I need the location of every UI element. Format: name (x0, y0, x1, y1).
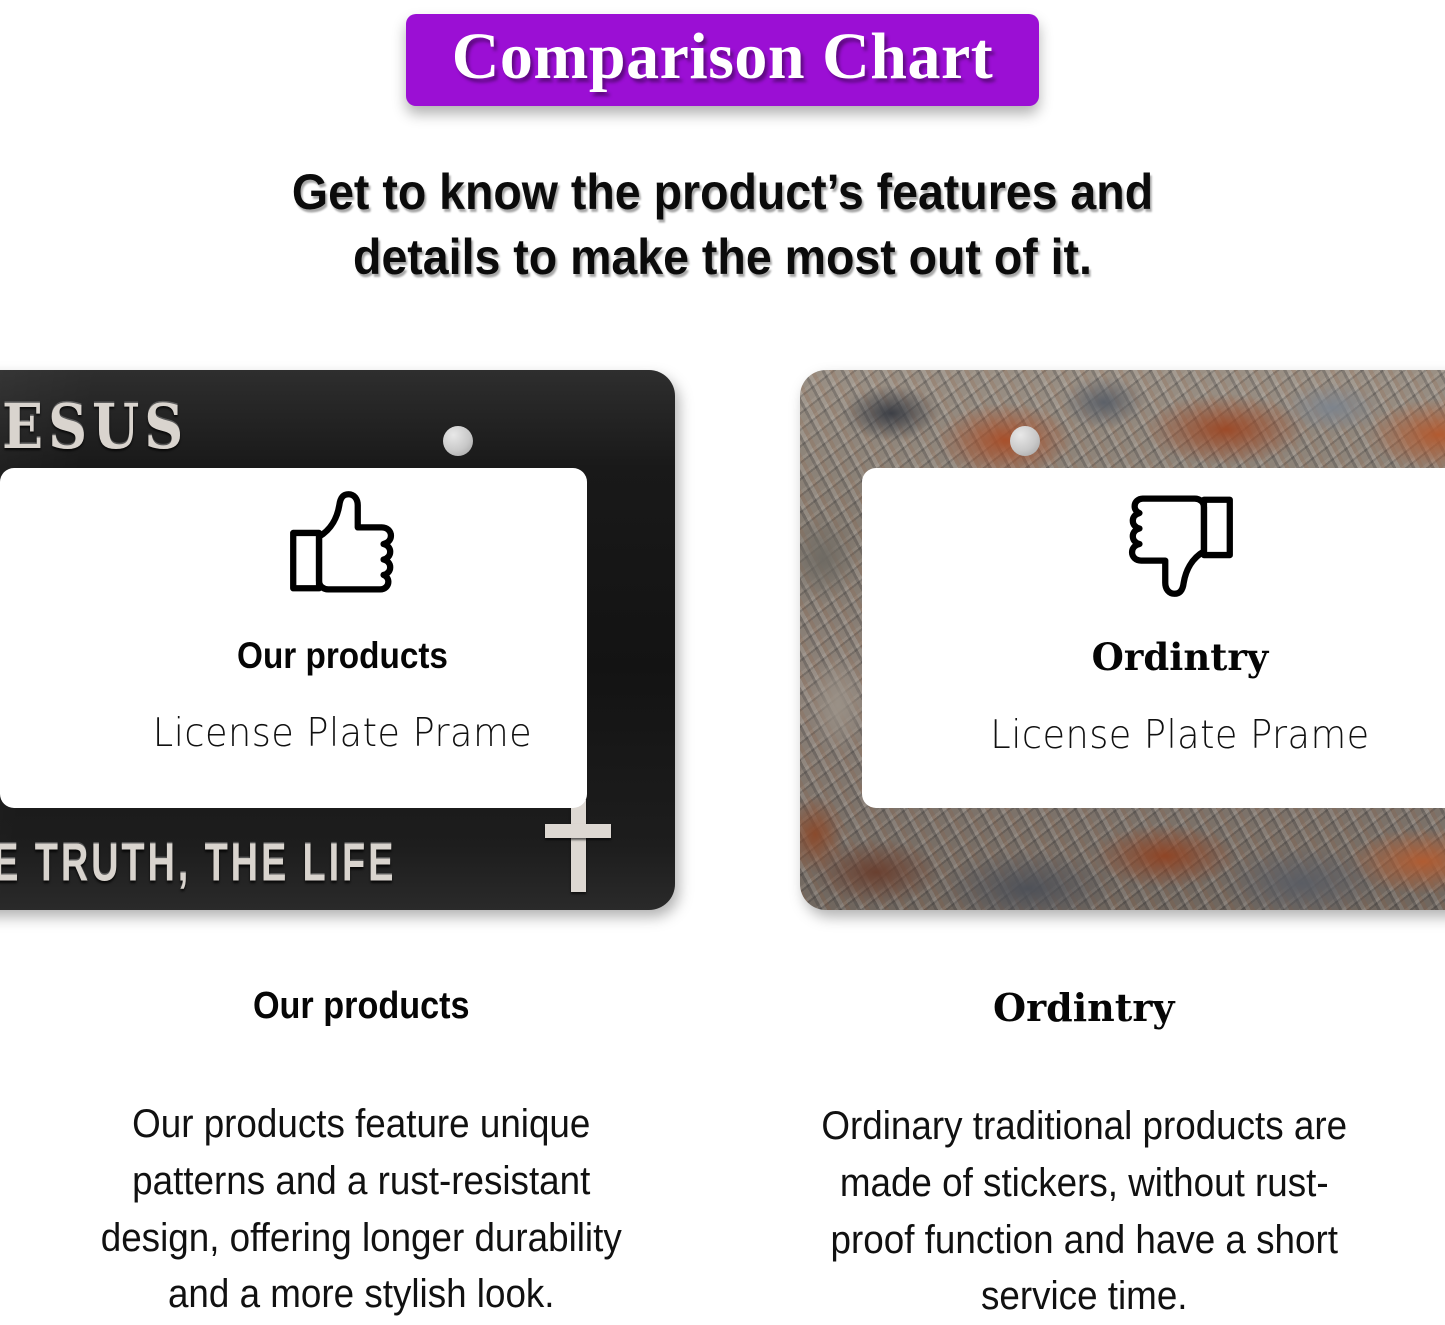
title-banner-wrapper: Comparison Chart (0, 14, 1445, 106)
subtitle-line-1: Get to know the product’s features and (153, 160, 1292, 225)
bad-card-heading: Ordintry (800, 635, 1445, 679)
cross-vertical-bar (571, 800, 586, 892)
description-columns: Our products Our products feature unique… (0, 985, 1445, 1325)
good-column-title: Our products (87, 985, 636, 1028)
bad-column-title: Ordintry (779, 985, 1390, 1030)
cross-icon (545, 800, 611, 892)
bad-product-plate-frame: Ordintry License Plate Prame (800, 370, 1445, 910)
good-product-card-content: Our products License Plate Prame (0, 488, 675, 756)
thumbs-down-icon (800, 488, 1445, 605)
good-frame-top-engraving: ESUS (2, 389, 188, 463)
good-card-subheading: License Plate Prame (30, 711, 655, 756)
bad-card-subheading: License Plate Prame (823, 713, 1445, 758)
bad-product-description-column: Ordintry Ordinary traditional products a… (723, 985, 1445, 1325)
bad-column-body: Ordinary traditional products are made o… (803, 1098, 1365, 1325)
banner-title-text: Comparison Chart (452, 24, 994, 90)
good-frame-screw-hole (443, 426, 473, 456)
good-product-plate-frame: ESUS , THE TRUTH, THE LIFE Our products … (0, 370, 675, 910)
good-column-body: Our products feature unique patterns and… (80, 1096, 642, 1323)
good-product-description-column: Our products Our products feature unique… (0, 985, 723, 1325)
cross-horizontal-bar (545, 824, 611, 838)
comparison-frames-row: ESUS , THE TRUTH, THE LIFE Our products … (0, 352, 1445, 930)
page-subtitle: Get to know the product’s features and d… (51, 160, 1395, 290)
thumbs-up-icon (10, 488, 675, 605)
good-frame-bottom-engraving: , THE TRUTH, THE LIFE (0, 833, 396, 894)
title-banner: Comparison Chart (406, 14, 1040, 106)
bad-product-card-content: Ordintry License Plate Prame (800, 488, 1445, 758)
subtitle-line-2: details to make the most out of it. (153, 225, 1292, 290)
bad-frame-screw-hole (1010, 426, 1040, 456)
good-card-heading: Our products (43, 635, 642, 677)
